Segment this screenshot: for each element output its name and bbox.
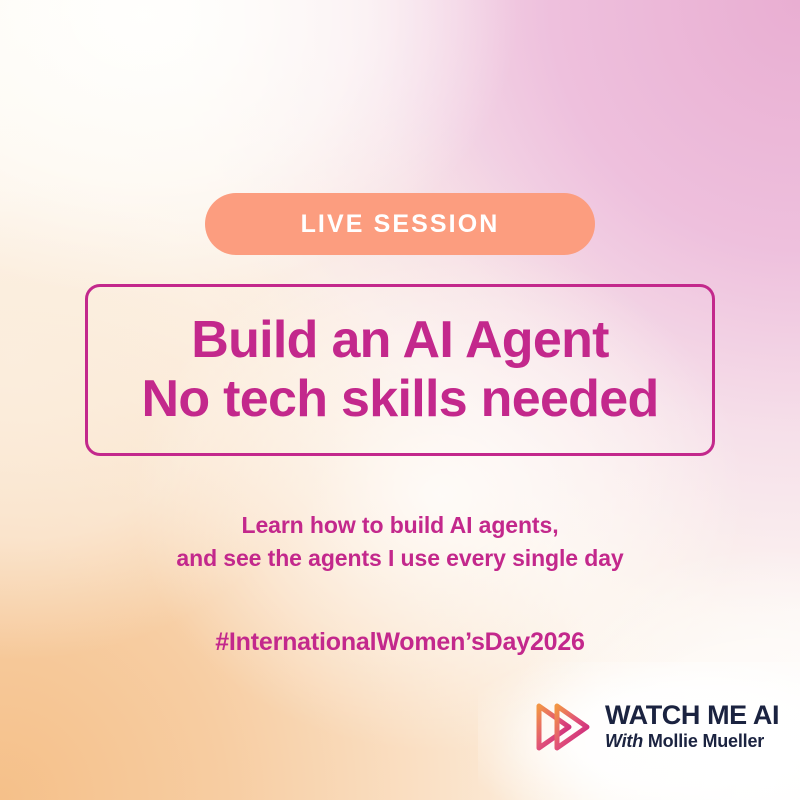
logo-with-word: With bbox=[605, 731, 643, 751]
live-session-badge-label: LIVE SESSION bbox=[301, 212, 500, 237]
logo-presenter-name: Mollie Mueller bbox=[648, 731, 764, 751]
poster-content: LIVE SESSION Build an AI Agent No tech s… bbox=[0, 0, 800, 800]
live-session-badge: LIVE SESSION bbox=[205, 193, 595, 255]
subheading: Learn how to build AI agents, and see th… bbox=[0, 509, 800, 575]
hashtag-text: #InternationalWomen’sDay2026 bbox=[0, 628, 800, 657]
headline-line-1: Build an AI Agent bbox=[191, 311, 609, 370]
subheading-line-2: and see the agents I use every single da… bbox=[0, 542, 800, 575]
brand-logo: WATCH ME AI With Mollie Mueller bbox=[534, 699, 779, 755]
logo-text-block: WATCH ME AI With Mollie Mueller bbox=[605, 701, 779, 752]
headline-box: Build an AI Agent No tech skills needed bbox=[85, 284, 715, 456]
headline-line-2: No tech skills needed bbox=[141, 370, 658, 429]
subheading-line-1: Learn how to build AI agents, bbox=[0, 509, 800, 542]
promo-poster: LIVE SESSION Build an AI Agent No tech s… bbox=[0, 0, 800, 800]
logo-title: WATCH ME AI bbox=[605, 701, 779, 730]
double-play-chevron-icon bbox=[534, 699, 594, 755]
logo-subtitle: With Mollie Mueller bbox=[605, 731, 779, 752]
